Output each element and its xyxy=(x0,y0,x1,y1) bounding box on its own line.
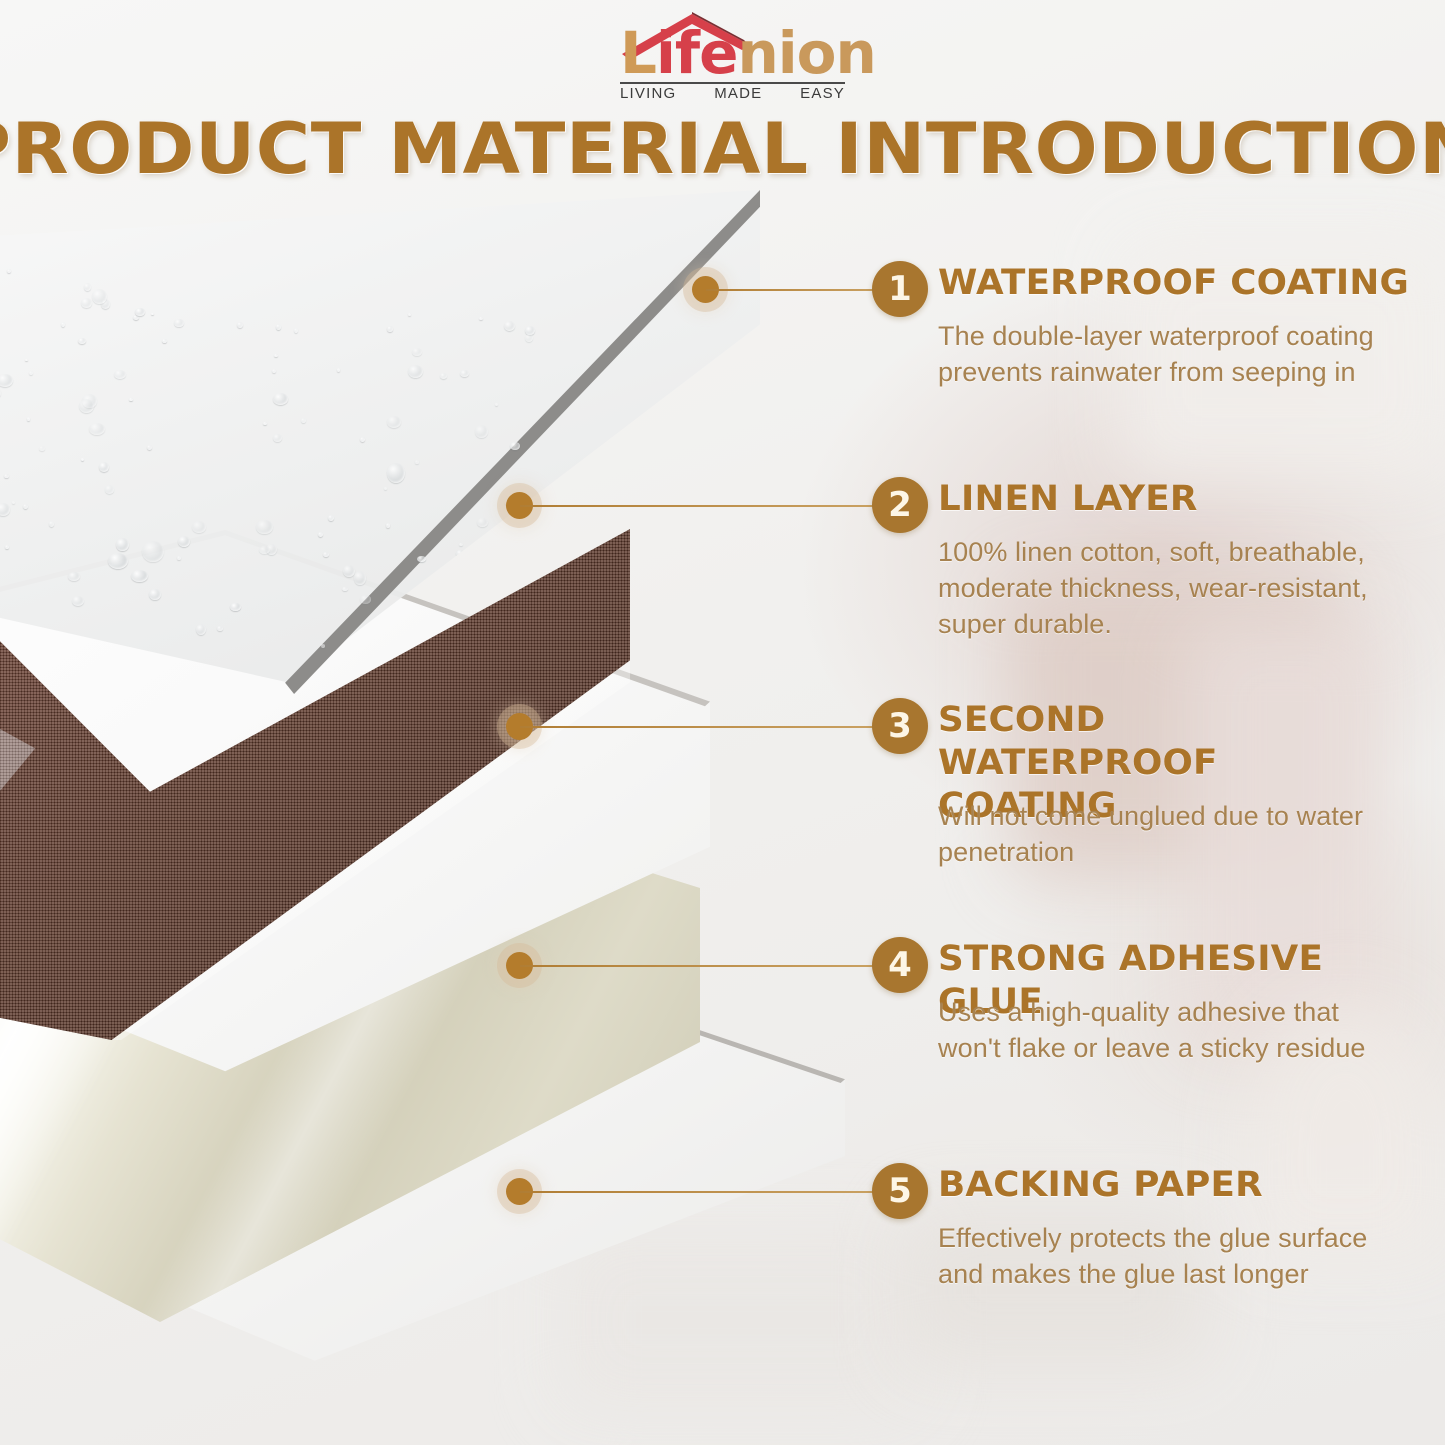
water-droplet xyxy=(0,374,13,387)
water-droplet xyxy=(27,417,31,420)
water-droplet xyxy=(256,520,272,534)
leader-line-1 xyxy=(706,289,886,291)
water-droplet xyxy=(25,359,28,361)
water-droplet xyxy=(272,369,276,373)
water-droplet xyxy=(456,550,465,557)
water-droplet xyxy=(0,388,1,398)
water-droplet xyxy=(5,545,9,548)
water-droplet xyxy=(178,536,190,547)
water-droplet xyxy=(384,487,388,490)
water-droplet xyxy=(412,348,422,356)
water-droplet xyxy=(39,446,45,451)
water-droplet xyxy=(81,458,84,461)
water-droplet xyxy=(337,368,341,372)
water-droplet xyxy=(78,338,86,344)
brand-logo: Lifenion LIVING MADE EASY xyxy=(604,8,864,100)
callout-body-1: The double-layer waterproof coating prev… xyxy=(938,318,1400,390)
water-droplet xyxy=(323,552,329,557)
water-droplet xyxy=(318,532,323,537)
tagline-word-easy: EASY xyxy=(800,85,845,102)
callout-title-1: WATERPROOF COATING xyxy=(938,262,1428,305)
water-droplet xyxy=(273,434,282,442)
callout-body-5: Effectively protects the glue surface an… xyxy=(938,1220,1406,1292)
water-droplet xyxy=(196,624,206,635)
logo-letter-l: L xyxy=(620,19,656,87)
water-droplet xyxy=(501,585,509,591)
water-droplet xyxy=(525,334,533,342)
callout-body-2: 100% linen cotton, soft, breathable, mod… xyxy=(938,534,1406,642)
water-droplet xyxy=(142,541,164,563)
water-droplet xyxy=(72,596,84,607)
water-droplet xyxy=(192,521,206,533)
number-badge-5: 5 xyxy=(872,1163,928,1219)
water-droplet xyxy=(174,319,184,328)
water-droplet xyxy=(387,463,405,483)
water-droplet xyxy=(108,553,128,569)
water-droplet xyxy=(301,418,306,422)
water-droplet xyxy=(479,317,483,320)
water-droplet xyxy=(387,326,393,331)
water-droplet xyxy=(89,423,105,435)
water-droplet xyxy=(23,504,28,509)
water-droplet xyxy=(129,398,132,401)
water-droplet xyxy=(105,485,114,493)
water-droplet xyxy=(49,521,54,527)
number-badge-3: 3 xyxy=(872,698,928,754)
leader-line-5 xyxy=(520,1191,886,1193)
water-droplet xyxy=(135,308,144,316)
water-droplet xyxy=(12,501,15,504)
water-droplet xyxy=(504,321,515,331)
number-badge-1: 1 xyxy=(872,261,928,317)
water-droplet xyxy=(217,626,222,630)
water-droplet xyxy=(162,339,167,343)
water-droplet xyxy=(328,515,334,522)
water-droplet xyxy=(342,587,348,591)
brand-wordmark: Lifenion xyxy=(620,22,876,84)
water-droplet xyxy=(440,373,448,379)
water-droplet xyxy=(274,354,277,357)
leader-line-3 xyxy=(520,726,886,728)
water-droplet xyxy=(81,298,92,308)
logo-letter-f: f xyxy=(675,19,699,87)
water-droplet xyxy=(408,365,423,378)
brand-tagline: LIVING MADE EASY xyxy=(620,85,845,102)
page-title: PRODUCT MATERIAL INTRODUCTIONS xyxy=(0,108,1445,190)
water-droplet xyxy=(116,538,128,551)
logo-letters-nion: nion xyxy=(737,19,875,87)
logo-divider xyxy=(620,82,845,84)
layered-material-illustration xyxy=(0,200,900,1445)
water-droplet xyxy=(475,425,489,438)
water-droplet xyxy=(459,543,463,546)
infographic-canvas: Lifenion LIVING MADE EASY PRODUCT MATERI… xyxy=(0,0,1445,1445)
water-droplet xyxy=(7,269,11,273)
water-droplet xyxy=(131,570,148,582)
callout-title-2: LINEN LAYER xyxy=(938,478,1428,521)
water-droplet xyxy=(29,371,33,375)
water-droplet xyxy=(84,283,92,291)
water-droplet xyxy=(114,370,126,379)
water-droplet xyxy=(495,403,498,406)
leader-line-2 xyxy=(520,505,886,507)
number-badge-4: 4 xyxy=(872,937,928,993)
water-droplet xyxy=(386,523,391,528)
water-droplet xyxy=(294,328,299,333)
logo-letter-e: e xyxy=(699,19,737,87)
water-droplet xyxy=(415,460,418,463)
water-droplet xyxy=(177,556,181,560)
water-droplet xyxy=(477,518,488,527)
water-droplet xyxy=(4,474,8,478)
leader-line-4 xyxy=(520,965,886,967)
water-droplet xyxy=(230,603,240,611)
water-droplet xyxy=(354,571,366,584)
tagline-word-made: MADE xyxy=(714,85,762,102)
logo-letter-i: i xyxy=(656,19,675,87)
water-droplet xyxy=(321,644,326,648)
water-droplet xyxy=(273,393,288,405)
callout-title-5: BACKING PAPER xyxy=(938,1164,1428,1207)
water-droplet xyxy=(68,572,80,581)
water-droplet xyxy=(510,442,520,450)
water-droplet xyxy=(149,589,161,600)
water-droplet xyxy=(61,322,66,327)
water-droplet xyxy=(343,565,355,577)
water-droplet xyxy=(276,324,281,330)
water-droplet xyxy=(417,556,426,562)
water-droplet xyxy=(0,503,10,516)
tagline-word-living: LIVING xyxy=(620,85,676,102)
number-badge-2: 2 xyxy=(872,477,928,533)
water-droplet xyxy=(79,399,94,413)
water-droplet xyxy=(360,437,365,442)
water-droplet xyxy=(408,313,411,316)
water-droplet xyxy=(151,313,154,316)
water-droplet xyxy=(99,462,109,472)
water-droplet xyxy=(263,422,267,425)
callout-body-4: Uses a high-quality adhesive that won't … xyxy=(938,994,1406,1066)
water-droplet xyxy=(460,370,468,377)
water-droplet xyxy=(237,322,243,328)
water-droplet xyxy=(92,289,107,304)
callout-body-3: Will not come unglued due to water penet… xyxy=(938,798,1400,870)
water-droplet xyxy=(387,416,402,428)
water-droplet xyxy=(360,595,372,603)
water-droplet xyxy=(147,445,152,450)
water-droplet xyxy=(419,592,423,596)
water-droplet xyxy=(489,547,496,554)
